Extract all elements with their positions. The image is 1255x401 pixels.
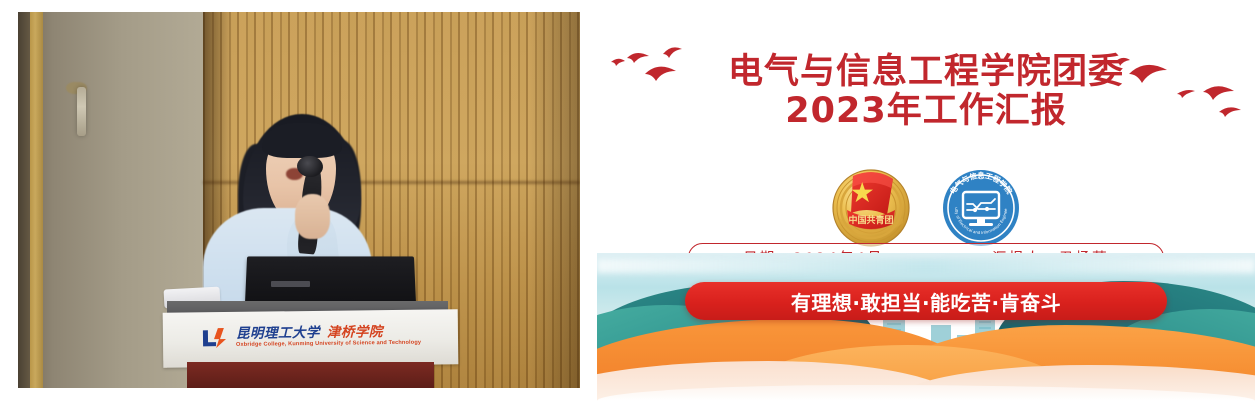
podium-banner-english-name: Oxbridge College, Kunming University of … (236, 341, 421, 349)
college-of-electrical-and-information-engineering-emblem: 电气与信息工程学院 Faculty of Electrical and Info… (937, 162, 1025, 250)
presentation-slide: 电气与信息工程学院团委 2023年工作汇报 (597, 0, 1255, 401)
slide-title: 电气与信息工程学院团委 2023年工作汇报 (597, 55, 1255, 129)
door-handle (77, 87, 86, 136)
screenshot-canvas: 昆明理工大学 津桥学院 Oxbridge College, Kunming Un… (0, 0, 1255, 401)
emblem-row: 中国共青团 (597, 162, 1255, 250)
speaker-photo: 昆明理工大学 津桥学院 Oxbridge College, Kunming Un… (18, 12, 580, 388)
podium-banner: 昆明理工大学 津桥学院 Oxbridge College, Kunming Un… (163, 309, 459, 367)
slogan-text: 有理想·敢担当·能吃苦·肯奋斗 (791, 287, 1061, 316)
podium-body (187, 362, 434, 388)
slogan-banner: 有理想·敢担当·能吃苦·肯奋斗 (685, 282, 1167, 320)
sky-haze-band (597, 259, 1255, 273)
laptop-logo-icon (271, 281, 310, 287)
slide-title-line1: 电气与信息工程学院团委 (597, 55, 1255, 91)
slide-title-line2: 2023年工作汇报 (597, 94, 1255, 130)
svg-text:中国共青团: 中国共青团 (848, 214, 893, 226)
communist-youth-league-emblem: 中国共青团 (827, 162, 915, 250)
oxbridge-college-logo-icon (200, 326, 230, 350)
speaker-fringe (262, 123, 342, 159)
door-frame-strip (30, 12, 42, 388)
mountains-city-clouds-illustration (597, 253, 1255, 401)
podium-banner-university-name: 昆明理工大学 (236, 327, 320, 342)
podium-banner-college-name: 津桥学院 (327, 326, 383, 340)
wood-shadow-right (529, 12, 580, 388)
speaker-hand (295, 194, 331, 239)
